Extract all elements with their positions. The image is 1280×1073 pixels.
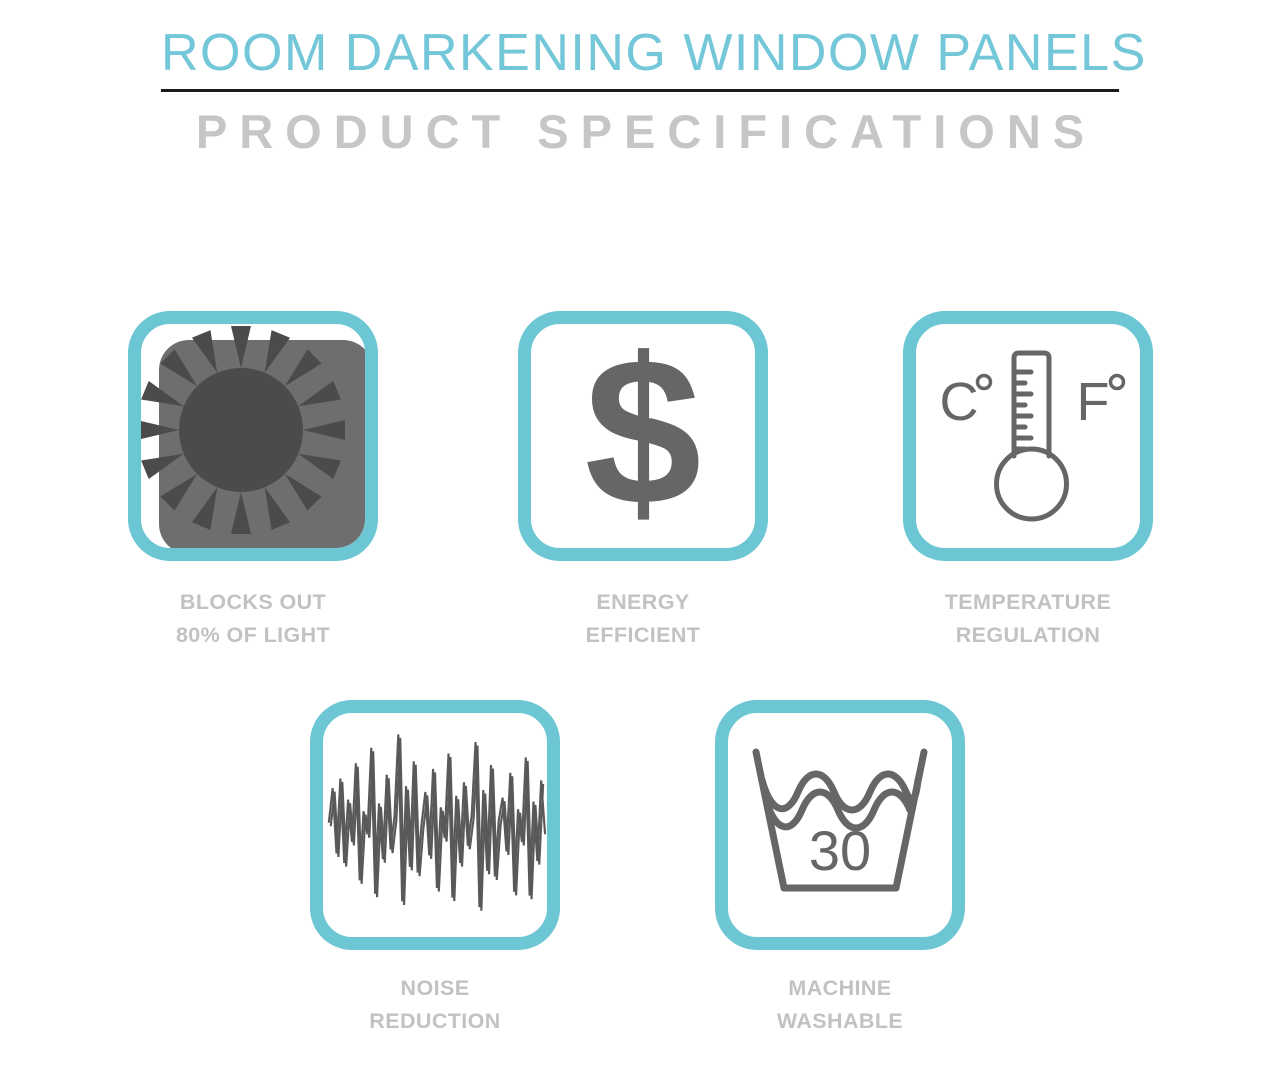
icon-frame (128, 311, 378, 561)
page-title: ROOM DARKENING WINDOW PANELS (161, 26, 1119, 81)
fahrenheit-label: F (1076, 372, 1109, 432)
feature-card-noise-reduction[interactable]: NOISE REDUCTION (310, 700, 560, 1039)
feature-card-blocks-light[interactable]: BLOCKS OUT 80% OF LIGHT (128, 311, 378, 653)
feature-label-line2: REDUCTION (310, 1005, 560, 1038)
dollar-sign-icon: $ (531, 324, 755, 548)
celsius-degree-icon (977, 376, 990, 389)
fahrenheit-degree-icon (1110, 376, 1123, 389)
feature-label-line1: BLOCKS OUT (128, 586, 378, 619)
feature-card-machine-washable[interactable]: 30 MACHINE WASHABLE (715, 700, 965, 1039)
feature-card-temperature[interactable]: C F TEMPERATURE REGULATION (903, 311, 1153, 653)
icon-frame: 30 (715, 700, 965, 950)
noise-waveform-icon (323, 713, 547, 937)
feature-label: MACHINE WASHABLE (715, 972, 965, 1039)
feature-label-line2: REGULATION (903, 619, 1153, 652)
feature-label-line2: EFFICIENT (518, 619, 768, 652)
feature-label-line1: NOISE (310, 972, 560, 1005)
celsius-label: C (939, 372, 978, 432)
feature-label: TEMPERATURE REGULATION (903, 586, 1153, 653)
icon-frame (310, 700, 560, 950)
page-subtitle: PRODUCT SPECIFICATIONS (161, 104, 1119, 159)
blocked-sun-icon (141, 324, 365, 548)
feature-label-line1: TEMPERATURE (903, 586, 1153, 619)
svg-text:$: $ (585, 336, 702, 536)
feature-label-line2: 80% OF LIGHT (128, 619, 378, 652)
icon-frame: $ (518, 311, 768, 561)
icon-frame: C F (903, 311, 1153, 561)
title-divider (161, 89, 1119, 92)
feature-label: BLOCKS OUT 80% OF LIGHT (128, 586, 378, 653)
feature-label: NOISE REDUCTION (310, 972, 560, 1039)
wash-temperature-label: 30 (809, 819, 871, 882)
feature-grid: BLOCKS OUT 80% OF LIGHT $ ENERGY EFFICIE… (0, 0, 1280, 1073)
feature-label-line1: ENERGY (518, 586, 768, 619)
thermometer-icon: C F (916, 324, 1140, 548)
feature-label: ENERGY EFFICIENT (518, 586, 768, 653)
page-header: ROOM DARKENING WINDOW PANELS PRODUCT SPE… (0, 0, 1280, 159)
feature-label-line1: MACHINE (715, 972, 965, 1005)
wash-tub-icon: 30 (728, 713, 952, 937)
feature-card-energy-efficient[interactable]: $ ENERGY EFFICIENT (518, 311, 768, 653)
feature-label-line2: WASHABLE (715, 1005, 965, 1038)
